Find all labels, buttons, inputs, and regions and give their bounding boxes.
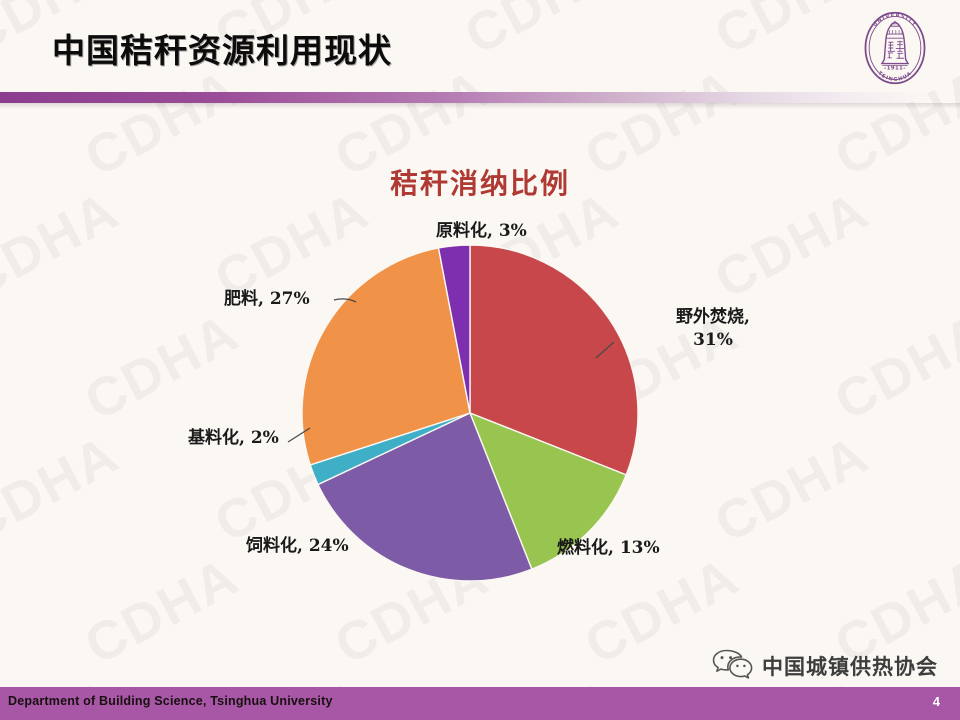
pie-label-yuanliaohua: 原料化, 3% <box>436 220 527 243</box>
footer-department: Department of Building Science, Tsinghua… <box>8 694 333 708</box>
pie-label-siliaohua-text: 饲料化, 24% <box>246 536 349 556</box>
chart-title: 秸秆消纳比例 <box>0 162 960 202</box>
pie-label-feiliao: 肥料, 27% <box>224 288 310 311</box>
footer-bar: Department of Building Science, Tsinghua… <box>0 687 960 720</box>
pie-label-yuanliaohua-text: 原料化, 3% <box>436 221 527 241</box>
pie-label-jiliaohua: 基料化, 2% <box>188 427 279 450</box>
pie-label-jiliaohua-text: 基料化, 2% <box>188 428 279 448</box>
pie-label-feiliao-text: 肥料, 27% <box>224 289 310 309</box>
pie-label-ranliaohua-text: 燃料化, 13% <box>557 538 660 558</box>
page-title: 中国秸秆资源利用现状 <box>52 24 392 72</box>
pie-label-yewaifenshao-line2: 31% <box>628 329 798 352</box>
tsinghua-seal-icon: -1911- UNIVERSITY TSINGHUA <box>854 7 936 89</box>
wechat-account-row: 中国城镇供热协会 <box>711 647 938 684</box>
wechat-icon <box>711 647 753 684</box>
header-divider-shadow <box>0 103 960 109</box>
chart-area: 秸秆消纳比例 原料化, 3% 野外焚烧, 31% 燃料化, 13% 饲料化, 2… <box>0 110 960 650</box>
pie-chart <box>300 243 640 583</box>
pie-label-siliaohua: 饲料化, 24% <box>246 535 349 558</box>
header-divider <box>0 92 960 103</box>
pie-label-yewaifenshao-line1: 野外焚烧, <box>628 306 798 329</box>
slide: CDHACDHACDHACDHACDHACDHACDHACDHACDHACDHA… <box>0 0 960 720</box>
pie-label-ranliaohua: 燃料化, 13% <box>557 537 660 560</box>
slide-header: 中国秸秆资源利用现状 <box>0 0 960 88</box>
wechat-account-name: 中国城镇供热协会 <box>762 651 938 681</box>
svg-text:-1911-: -1911- <box>884 66 906 72</box>
pie-label-yewaifenshao: 野外焚烧, 31% <box>628 306 798 352</box>
page-number: 4 <box>933 694 940 709</box>
